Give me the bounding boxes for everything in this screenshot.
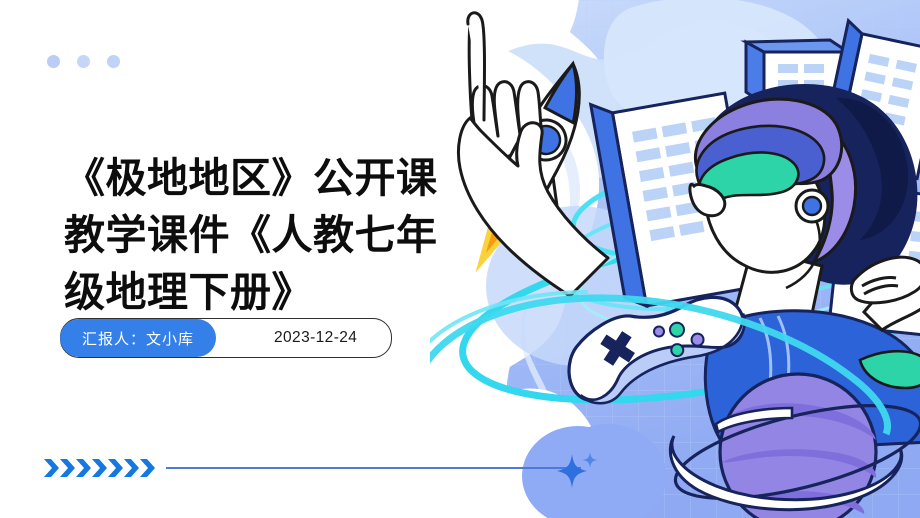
title-line-3: 级地理下册》 xyxy=(64,264,494,321)
title-line-1: 《极地地区》公开课 xyxy=(64,150,494,207)
footer-decoration xyxy=(42,457,581,479)
dot-2 xyxy=(77,55,90,68)
decorative-dots xyxy=(47,55,120,68)
presenter-badge: 汇报人：文小库 xyxy=(60,319,216,357)
sparkle-icon xyxy=(556,450,600,492)
title-line-2: 教学课件《人教七年 xyxy=(64,207,494,264)
presenter-meta-bar: 汇报人：文小库 2023-12-24 xyxy=(60,318,392,358)
slide-cover: 《极地地区》公开课 教学课件《人教七年 级地理下册》 汇报人：文小库 2023-… xyxy=(0,0,920,518)
chevrons-icon xyxy=(42,457,160,479)
dot-3 xyxy=(107,55,120,68)
cover-illustration xyxy=(430,0,920,518)
footer-rule xyxy=(166,467,581,469)
dot-1 xyxy=(47,55,60,68)
page-title: 《极地地区》公开课 教学课件《人教七年 级地理下册》 xyxy=(64,150,494,321)
date-label: 2023-12-24 xyxy=(216,329,373,347)
